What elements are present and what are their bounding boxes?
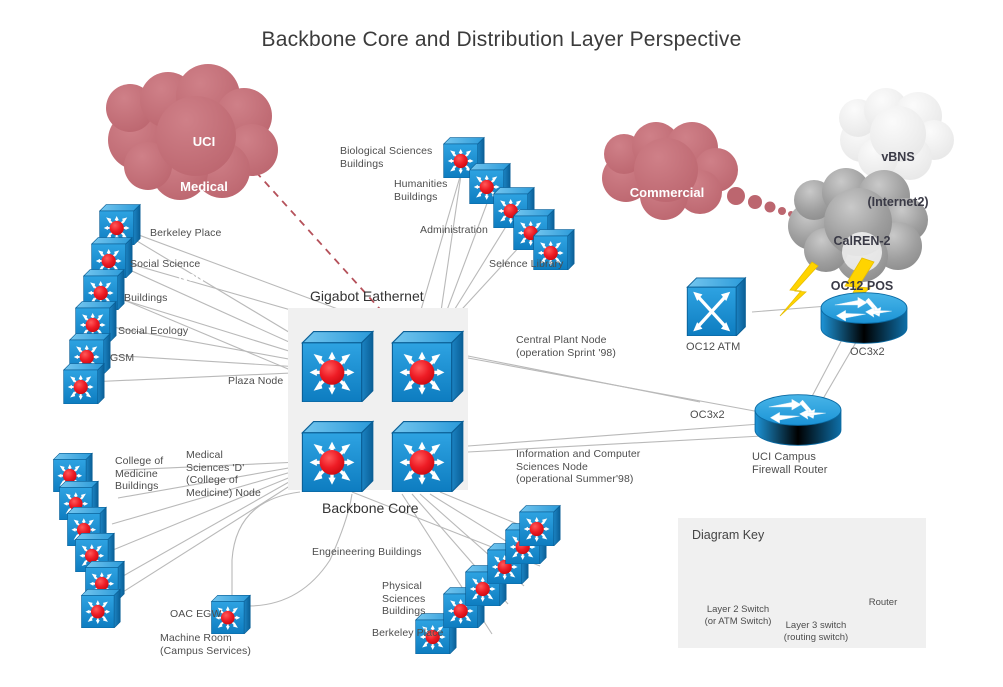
label-oc3x2-lower: OC3x2 <box>690 409 725 422</box>
label-ics-node: Information and Computer Sciences Node (… <box>516 448 640 486</box>
label-central-plant-node: Central Plant Node (operation Sprint '98… <box>516 334 616 359</box>
top-column-switches <box>444 138 574 270</box>
switch-node[interactable] <box>64 364 104 404</box>
core-switch[interactable] <box>392 332 462 402</box>
label-uci-campus-firewall-router: UCI Campus Firewall Router <box>752 451 827 476</box>
label-engineering-buildings: Engeineering Buildings <box>312 546 422 559</box>
label-machine-room-campus-services: Machine Room (Campus Services) <box>160 632 251 657</box>
core-switch[interactable] <box>302 332 372 402</box>
legend-caption-router: Router <box>848 597 918 609</box>
cloud-label-uci-medical-center-network: UCI Medical Center Network <box>156 104 252 314</box>
cloud-label-commercial-internet: Commercial Internet <box>606 155 728 275</box>
label-oac-egw: OAC EGW <box>170 608 221 621</box>
label-plaza-node: Plaza Node <box>228 375 283 388</box>
lower-left-switches <box>54 453 125 628</box>
label-oc12-atm: OC12 ATM <box>686 341 740 354</box>
switch-node[interactable] <box>520 506 560 546</box>
switch-node[interactable] <box>82 589 121 628</box>
label-humanities-buildings: Humanities Buildings <box>394 178 448 203</box>
label-berkeley-place-north: Berkeley Place <box>150 227 221 240</box>
core-switch[interactable] <box>302 422 372 492</box>
label-biological-sciences-buildings: Biological Sciences Buildings <box>340 145 432 170</box>
uci-campus-firewall-router[interactable] <box>755 395 841 446</box>
label-social-science: Social Science <box>130 258 200 271</box>
legend-caption-layer3-switch: Layer 3 switch (routing switch) <box>766 620 866 643</box>
label-administration: Administration <box>420 224 488 237</box>
oc12-atm-switch[interactable] <box>687 278 745 336</box>
label-medical-sciences-d-node: Medical Sciences 'D' (College of Medicin… <box>186 449 261 499</box>
label-oc3x2-upper: OC3x2 <box>850 346 885 359</box>
section-label-backbone-core: Backbone Core <box>322 500 419 516</box>
label-selence-library: Selence Library <box>489 258 563 271</box>
section-label-gigabit-ethernet: Gigabot Eathernet <box>310 288 424 304</box>
diagram-canvas: Backbone Core and Distribution Layer Per… <box>0 0 1003 687</box>
diagram-key-title: Diagram Key <box>692 528 764 542</box>
label-physical-sciences-buildings: Physical Sciences Buildings <box>382 580 426 618</box>
core-switch[interactable] <box>392 422 462 492</box>
label-social-ecology: Social Ecology <box>118 325 188 338</box>
cloud-label-calren-2-oc12-pos: CalREN-2 OC12 POS <box>806 204 918 324</box>
label-buildings: Buildings <box>124 292 168 305</box>
label-berkeley-place-south: Berkeley Place <box>372 627 443 640</box>
label-gsm: GSM <box>110 352 134 365</box>
label-college-of-medicine-buildings: College of Medicine Buildings <box>115 455 163 493</box>
